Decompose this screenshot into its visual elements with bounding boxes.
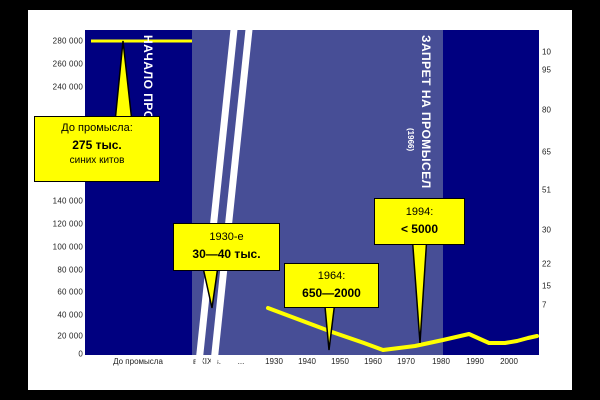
y-tick-label: 60 000 [57, 288, 83, 297]
y-axis-left: 280 000 260 000 240 000 160 000 140 000 … [28, 30, 83, 355]
slide-canvas: НАЧАЛО ПРОМЫСЛА ЗАПРЕТ НА ПРОМЫСЕЛ (1966… [28, 10, 572, 390]
y-tick-label-right: 30 [542, 226, 551, 235]
y-tick-label-right: 15 [542, 282, 551, 291]
y-tick-label: 260 000 [53, 60, 83, 69]
y-tick-label: 280 000 [53, 37, 83, 46]
annotation-line-3: синих китов [41, 154, 153, 169]
x-tick-label: 1980 [432, 357, 450, 366]
annotation-pre-harvest[interactable]: До промысла: 275 тыс. синих китов [34, 116, 160, 182]
y-tick-label: 0 [78, 350, 83, 359]
annotation-1994[interactable]: 1994: < 5000 [374, 198, 465, 245]
annotation-line-1: 1994: [381, 205, 458, 221]
annotation-line-1: 1964: [291, 269, 372, 285]
y-tick-label: 120 000 [53, 220, 83, 229]
y-tick-label-right: 65 [542, 148, 551, 157]
screenshot-frame: НАЧАЛО ПРОМЫСЛА ЗАПРЕТ НА ПРОМЫСЕЛ (1966… [0, 0, 600, 400]
annotation-line-2: < 5000 [381, 221, 458, 238]
annotation-line-2: 650—2000 [291, 285, 372, 302]
x-axis: До промысла в XIX в. ... 1930 1940 1950 … [85, 357, 539, 373]
x-tick-label: ... [238, 357, 245, 366]
y-tick-label: 100 000 [53, 243, 83, 252]
y-tick-label: 20 000 [57, 332, 83, 341]
y-tick-label: 80 000 [57, 266, 83, 275]
annotation-line-1: 1930-е [180, 230, 273, 246]
annotation-line-1: До промысла: [41, 121, 153, 137]
annotation-1964[interactable]: 1964: 650—2000 [284, 263, 379, 308]
annotation-line-2: 275 тыс. [41, 137, 153, 154]
x-tick-label: 1950 [331, 357, 349, 366]
y-axis-right: 10 95 80 65 51 30 22 15 7 [539, 30, 572, 355]
x-tick-label: 1930 [265, 357, 283, 366]
y-tick-label: 240 000 [53, 83, 83, 92]
x-tick-label: 1960 [364, 357, 382, 366]
y-tick-label-right: 10 [542, 48, 551, 57]
y-tick-label-right: 80 [542, 106, 551, 115]
x-tick-label: 1970 [397, 357, 415, 366]
y-tick-label-right: 95 [542, 66, 551, 75]
y-tick-label-right: 51 [542, 186, 551, 195]
x-tick-label: 2000 [500, 357, 518, 366]
x-tick-label: 1940 [298, 357, 316, 366]
x-tick-label: До промысла [113, 357, 163, 366]
annotation-line-2: 30—40 тыс. [180, 246, 273, 263]
x-tick-label: 1990 [466, 357, 484, 366]
y-tick-label: 140 000 [53, 197, 83, 206]
y-tick-label-right: 22 [542, 260, 551, 269]
y-tick-label-right: 7 [542, 301, 546, 310]
y-tick-label: 40 000 [57, 311, 83, 320]
annotation-1930s[interactable]: 1930-е 30—40 тыс. [173, 223, 280, 271]
